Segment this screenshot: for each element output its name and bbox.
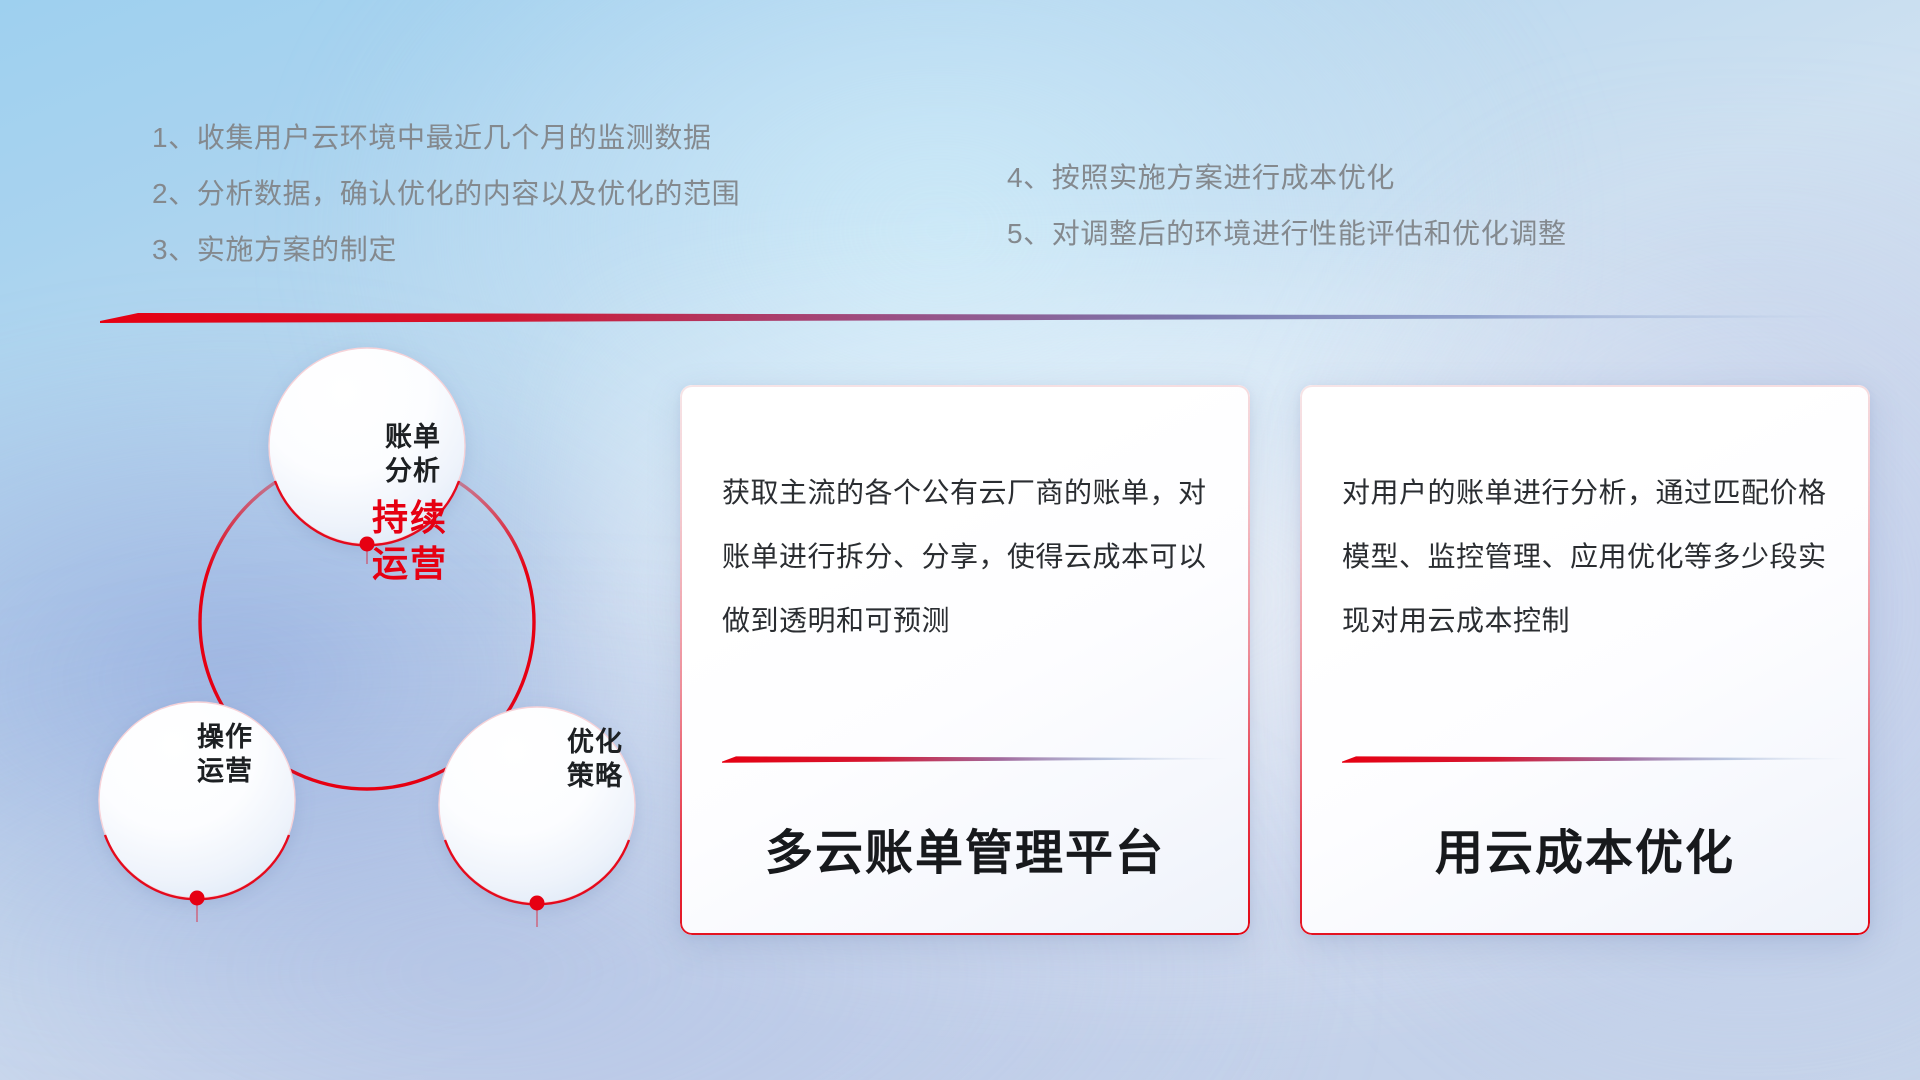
card-inner: 对用户的账单进行分析，通过匹配价格模型、监控管理、应用优化等多少段实现对用云成本… <box>1300 385 1870 935</box>
dot-operations <box>190 891 205 906</box>
step-item-5: 5、对调整后的环境进行性能评估和优化调整 <box>1007 206 1567 262</box>
bubble-label-optimization: 优化 策略 <box>515 725 675 793</box>
step-item-1: 1、收集用户云环境中最近几个月的监测数据 <box>152 110 740 166</box>
step-list-column-right: 4、按照实施方案进行成本优化 5、对调整后的环境进行性能评估和优化调整 <box>1007 150 1567 262</box>
dot-optimization <box>530 896 545 911</box>
feature-card-multi-cloud-billing-platform[interactable]: 获取主流的各个公有云厂商的账单，对账单进行拆分、分享，使得云成本可以做到透明和可… <box>680 385 1250 935</box>
card-body-text: 对用户的账单进行分析，通过匹配价格模型、监控管理、应用优化等多少段实现对用云成本… <box>1342 461 1828 653</box>
step-item-2: 2、分析数据，确认优化的内容以及优化的范围 <box>152 166 740 222</box>
bubble-label-bill-analysis: 账单 分析 <box>333 420 493 488</box>
section-divider-shape <box>100 310 1860 324</box>
step-item-4: 4、按照实施方案进行成本优化 <box>1007 150 1567 206</box>
card-body-text: 获取主流的各个公有云厂商的账单，对账单进行拆分、分享，使得云成本可以做到透明和可… <box>722 461 1208 653</box>
continuous-operation-diagram: 账单 分析 操作 运营 优化 策略 持续 运营 <box>95 350 640 965</box>
section-divider <box>100 310 1860 324</box>
step-list-column-left: 1、收集用户云环境中最近几个月的监测数据 2、分析数据，确认优化的内容以及优化的… <box>152 110 740 278</box>
bubble-label-operations: 操作 运营 <box>145 720 305 788</box>
card-inner: 获取主流的各个公有云厂商的账单，对账单进行拆分、分享，使得云成本可以做到透明和可… <box>680 385 1250 935</box>
step-item-3: 3、实施方案的制定 <box>152 222 740 278</box>
diagram-center-label: 持续 运营 <box>285 495 535 587</box>
feature-card-cloud-cost-optimization[interactable]: 对用户的账单进行分析，通过匹配价格模型、监控管理、应用优化等多少段实现对用云成本… <box>1300 385 1870 935</box>
